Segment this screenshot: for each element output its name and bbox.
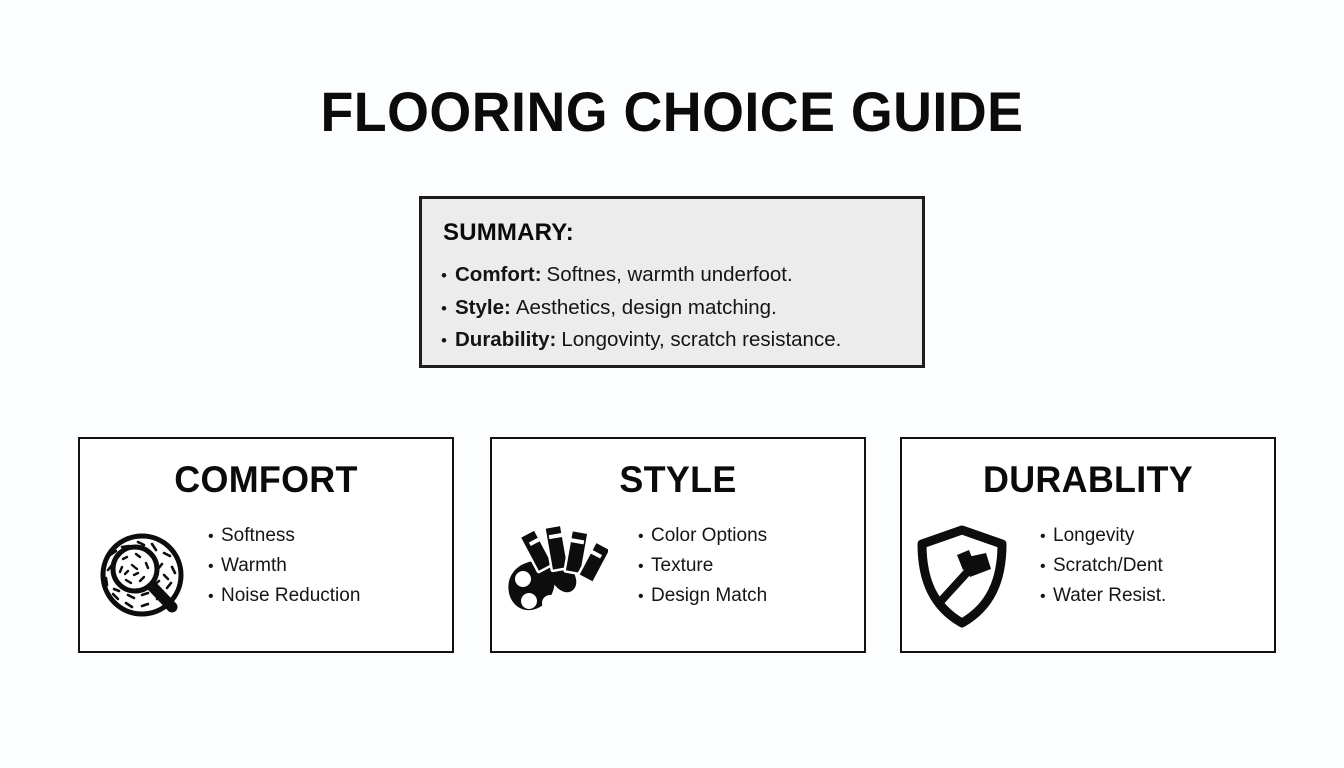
- bullet-icon: •: [441, 260, 455, 292]
- summary-heading: SUMMARY:: [443, 219, 574, 247]
- card-durability: DURABLITY • Longevity • Scratch/De: [900, 437, 1276, 653]
- list-item-label: Design Match: [651, 581, 767, 610]
- list-item-label: Noise Reduction: [221, 581, 360, 610]
- bullet-icon: •: [441, 293, 455, 325]
- list-item: • Warmth: [208, 551, 452, 581]
- list-item: • Softness: [208, 521, 452, 551]
- bullet-icon: •: [1040, 582, 1053, 611]
- summary-panel: SUMMARY: • Comfort: Softnes, warmth unde…: [419, 196, 925, 368]
- card-body: • Softness • Warmth • Noise Reduction: [80, 521, 452, 641]
- summary-item: • Comfort: Softnes, warmth underfoot.: [441, 259, 911, 292]
- bullet-icon: •: [638, 522, 651, 551]
- page-title: FLOORING CHOICE GUIDE: [27, 78, 1317, 146]
- summary-item-label: Comfort:: [455, 259, 542, 291]
- bullet-icon: •: [1040, 552, 1053, 581]
- list-item-label: Longevity: [1053, 521, 1134, 550]
- list-item: • Design Match: [638, 581, 864, 611]
- magnifier-carpet-texture-icon: [80, 521, 208, 629]
- summary-item: • Style: Aesthetics, design matching.: [441, 292, 911, 325]
- card-body: • Longevity • Scratch/Dent • Water Resis…: [902, 521, 1274, 641]
- paint-palette-swatches-icon: [492, 521, 620, 625]
- list-item-label: Texture: [651, 551, 713, 580]
- bullet-icon: •: [441, 325, 455, 357]
- list-item-label: Water Resist.: [1053, 581, 1166, 610]
- bullet-icon: •: [208, 552, 221, 581]
- bullet-icon: •: [1040, 522, 1053, 551]
- summary-item-text: Softnes, warmth underfoot.: [547, 259, 793, 291]
- summary-item-text: Aesthetics, design matching.: [516, 292, 777, 324]
- card-list: • Color Options • Texture • Design Match: [620, 521, 864, 611]
- list-item: • Texture: [638, 551, 864, 581]
- list-item-label: Color Options: [651, 521, 767, 550]
- list-item-label: Warmth: [221, 551, 287, 580]
- summary-item-label: Durability:: [455, 324, 556, 356]
- card-style: STYLE: [490, 437, 866, 653]
- summary-item-text: Longovinty, scratch resistance.: [561, 324, 841, 356]
- summary-item-label: Style:: [455, 292, 511, 324]
- card-comfort: COMFORT: [78, 437, 454, 653]
- card-title: DURABLITY: [908, 458, 1269, 502]
- summary-item: • Durability: Longovinty, scratch resist…: [441, 324, 911, 357]
- shield-hammer-icon: [902, 521, 1022, 629]
- list-item: • Scratch/Dent: [1040, 551, 1274, 581]
- cards-row: COMFORT: [78, 437, 1266, 655]
- summary-list: • Comfort: Softnes, warmth underfoot. • …: [441, 259, 911, 357]
- bullet-icon: •: [208, 582, 221, 611]
- bullet-icon: •: [638, 582, 651, 611]
- card-title: COMFORT: [86, 458, 447, 502]
- card-list: • Softness • Warmth • Noise Reduction: [208, 521, 452, 611]
- card-body: • Color Options • Texture • Design Match: [492, 521, 864, 641]
- list-item: • Noise Reduction: [208, 581, 452, 611]
- bullet-icon: •: [638, 552, 651, 581]
- bullet-icon: •: [208, 522, 221, 551]
- card-title: STYLE: [498, 458, 859, 502]
- list-item: • Color Options: [638, 521, 864, 551]
- card-list: • Longevity • Scratch/Dent • Water Resis…: [1022, 521, 1274, 611]
- list-item: • Longevity: [1040, 521, 1274, 551]
- list-item: • Water Resist.: [1040, 581, 1274, 611]
- list-item-label: Scratch/Dent: [1053, 551, 1163, 580]
- list-item-label: Softness: [221, 521, 295, 550]
